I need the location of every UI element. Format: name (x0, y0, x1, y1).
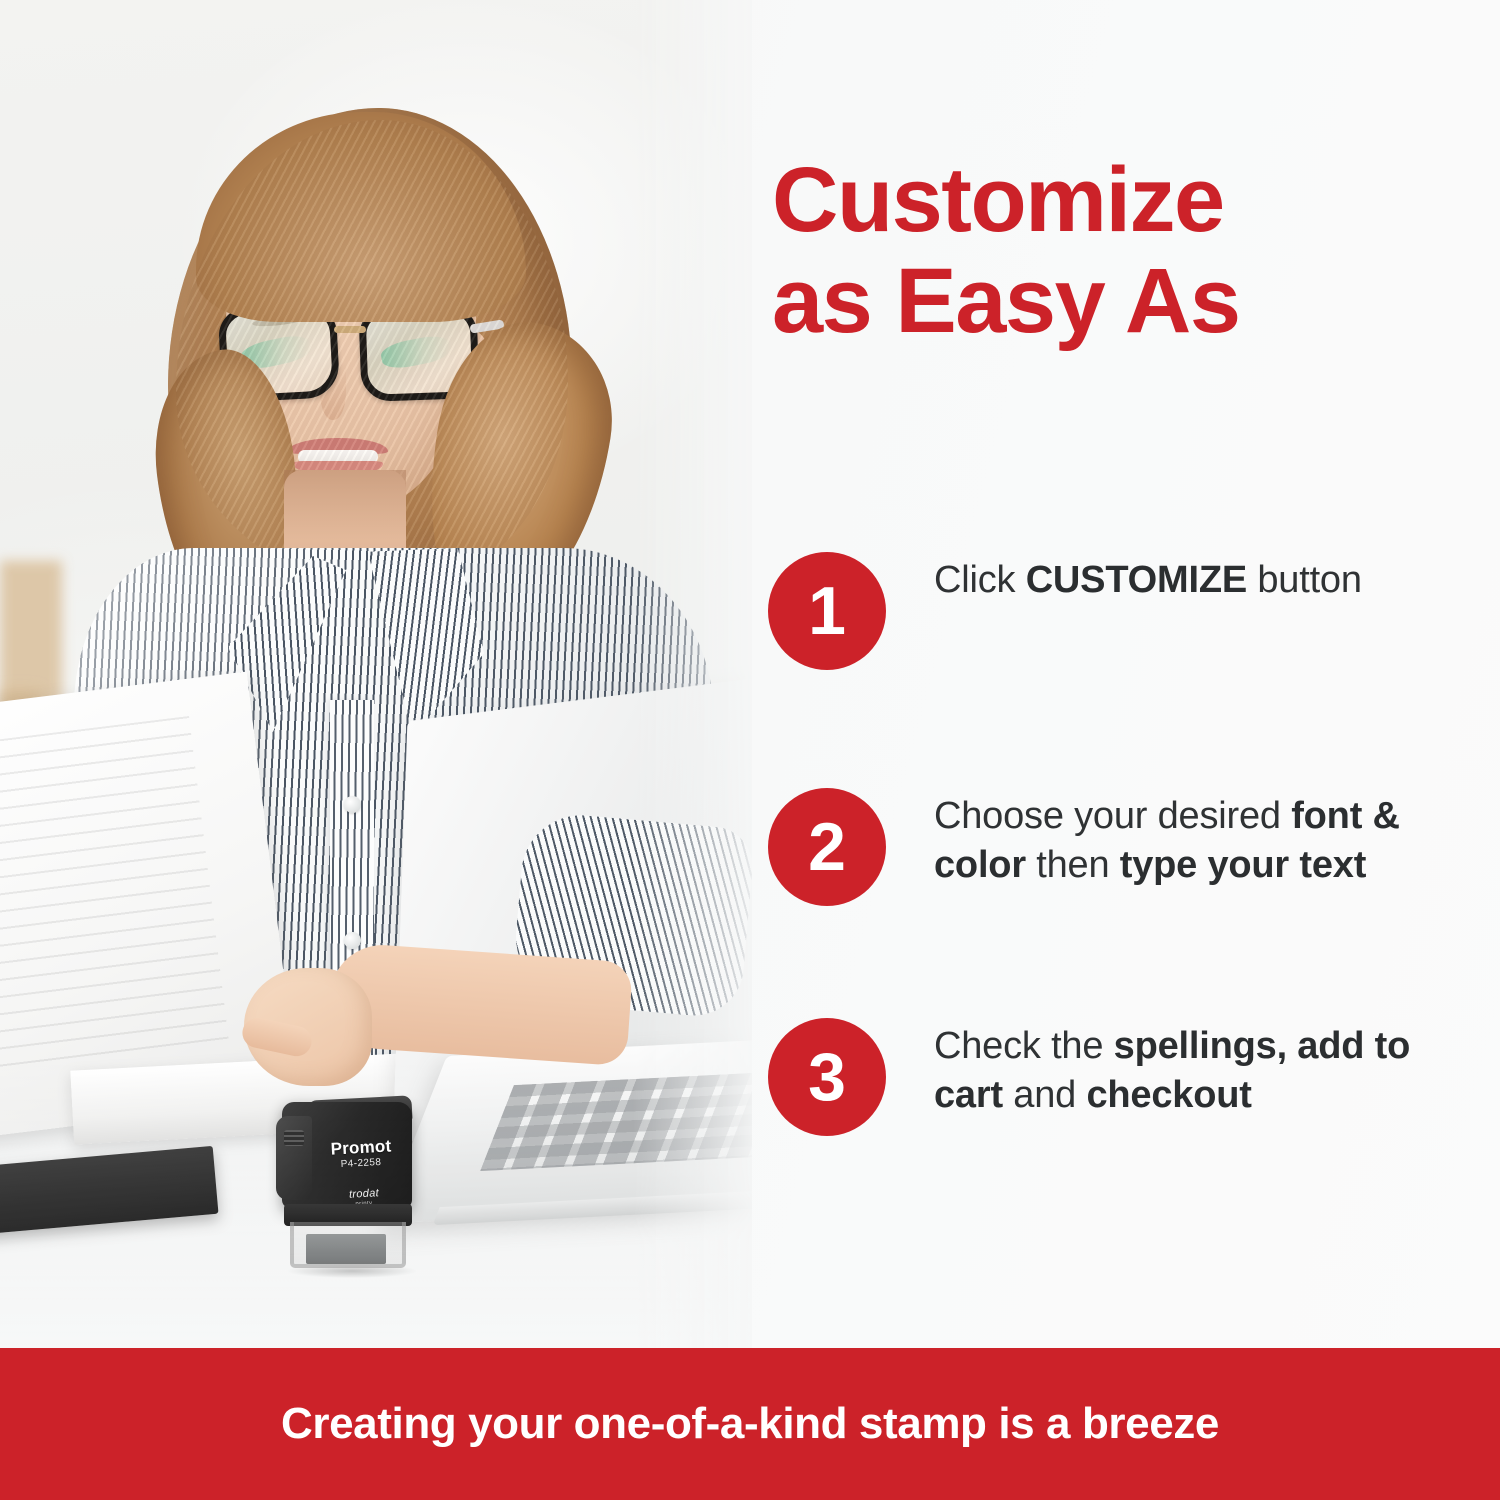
step-item-2: 2 Choose your desired font & color then … (768, 788, 1448, 906)
document-text-lines (0, 716, 229, 1074)
stamp-vent-grille (284, 1130, 304, 1146)
step-item-3: 3 Check the spellings, add to cart and c… (768, 1018, 1448, 1136)
self-inking-stamp: Promot P4-2258 trodat printy (268, 1096, 428, 1272)
page-title: Customize as Easy As (772, 150, 1432, 352)
lifestyle-photo: Promot P4-2258 trodat printy (0, 0, 752, 1348)
shirt-button (344, 796, 361, 813)
step-description-1: Click CUSTOMIZE button (934, 552, 1362, 605)
step-description-3: Check the spellings, add to cart and che… (934, 1018, 1434, 1121)
bottom-banner: Creating your one-of-a-kind stamp is a b… (0, 1348, 1500, 1500)
laptop-keyboard (480, 1071, 752, 1171)
stamp-side-wing (276, 1116, 312, 1200)
shirt-button (344, 932, 361, 949)
step-number-badge-3: 3 (768, 1018, 886, 1136)
steps-list: 1 Click CUSTOMIZE button 2 Choose your d… (768, 552, 1448, 1136)
step-description-2: Choose your desired font & color then ty… (934, 788, 1434, 891)
stamp-impression-pad (306, 1234, 386, 1264)
headline-line-1: Customize (772, 149, 1224, 251)
headline-line-2: as Easy As (772, 251, 1432, 352)
banner-tagline: Creating your one-of-a-kind stamp is a b… (281, 1399, 1219, 1449)
step-item-1: 1 Click CUSTOMIZE button (768, 552, 1448, 670)
photo-scene: Promot P4-2258 trodat printy (0, 0, 752, 1348)
neck-shadow (284, 470, 406, 540)
forearm (327, 942, 634, 1067)
step-number-badge-1: 1 (768, 552, 886, 670)
step-number-badge-2: 2 (768, 788, 886, 906)
promo-graphic: Promot P4-2258 trodat printy Customize a… (0, 0, 1500, 1500)
